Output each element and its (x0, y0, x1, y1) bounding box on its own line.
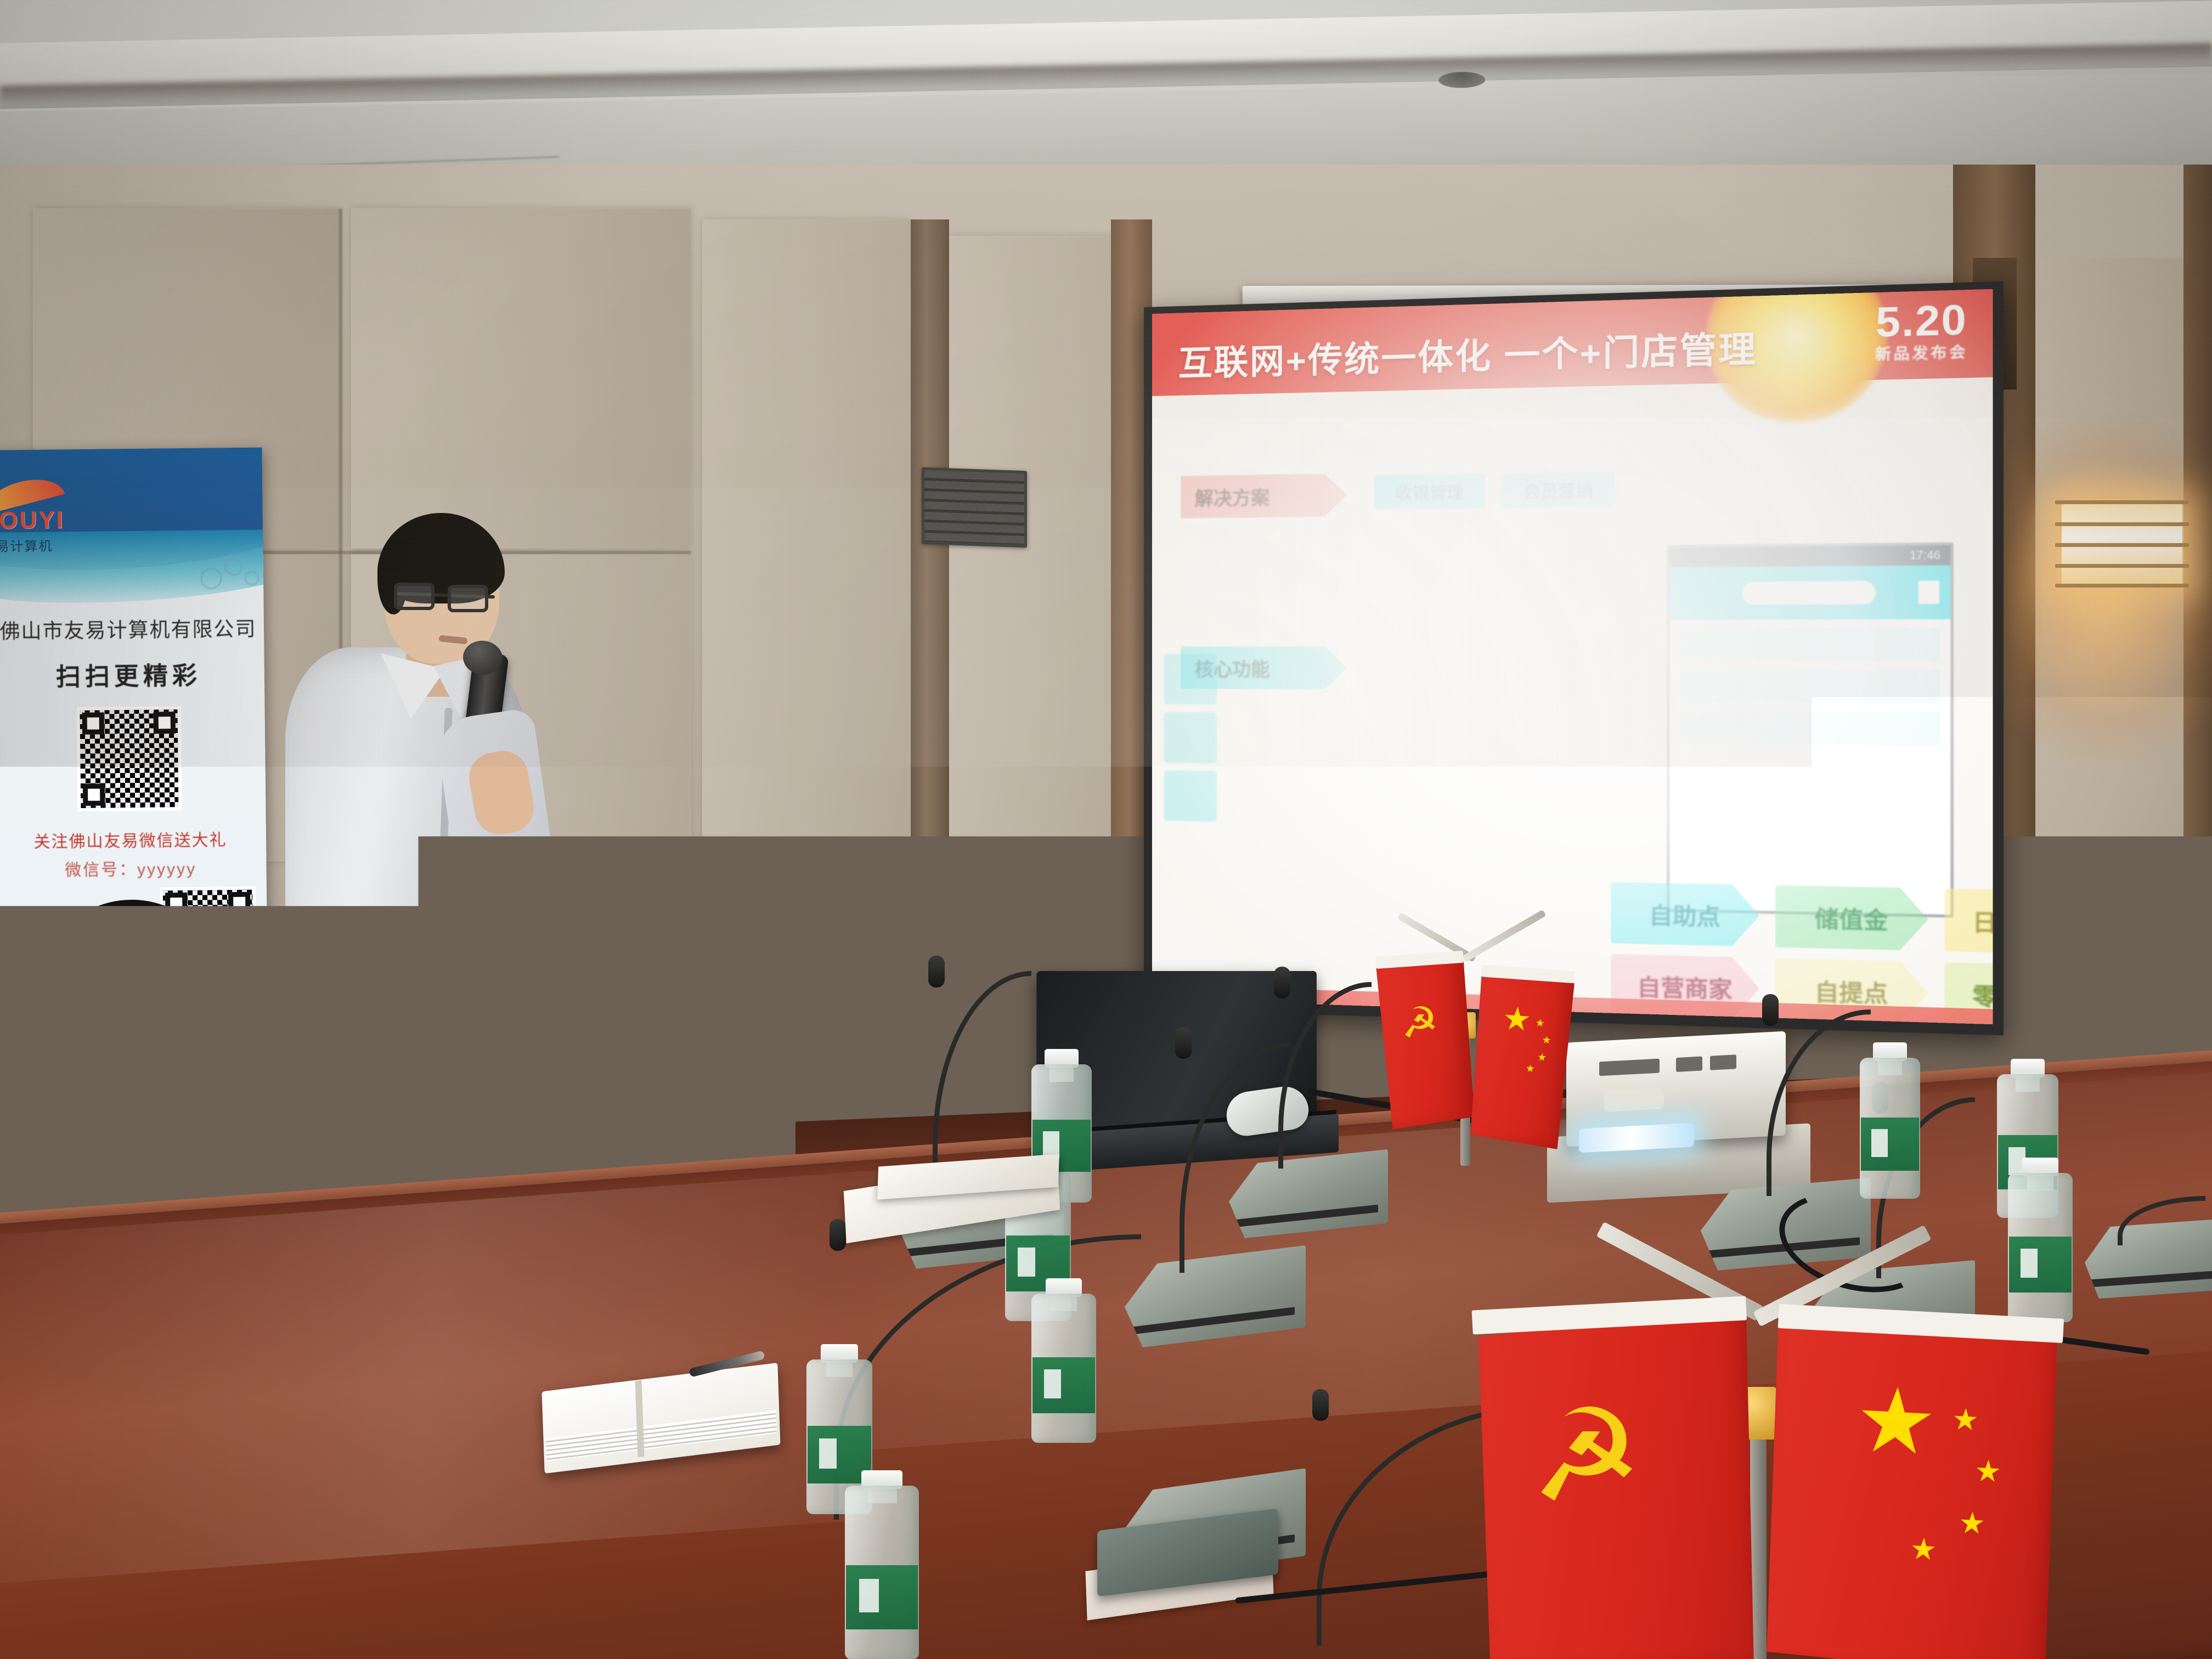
big-star-icon: ★ (1502, 1002, 1532, 1036)
slide-grid-button: 自助点 (1611, 882, 1759, 947)
banner-logo-cn: 友易计算机 (0, 535, 65, 555)
banner-bubble (224, 557, 243, 576)
hammer-and-sickle-icon: ☭ (1400, 1001, 1440, 1045)
microphone-capsule-icon (1274, 967, 1290, 998)
phone-top-bar (1669, 565, 1950, 620)
wall-sconce-lamp-icon (2062, 504, 2182, 586)
wall-panel (949, 236, 1114, 977)
small-star-icon: ★ (1535, 1018, 1545, 1029)
microphone-capsule-icon (1762, 994, 1779, 1026)
cpc-party-flag: ☭ (1375, 954, 1475, 1130)
slide-chevron-1: 解决方案 (1181, 473, 1347, 518)
prc-national-flag: ★ ★ ★ ★ ★ (1760, 1310, 2063, 1659)
slide-grid-button: 储值金 (1775, 885, 1928, 951)
slide-pill: 收银管理 (1374, 473, 1486, 510)
banner-bubble (244, 571, 259, 586)
phone-list-row (1679, 710, 1940, 746)
wall-panel (351, 208, 691, 549)
qr-code-icon[interactable] (76, 706, 182, 811)
phone-status-bar: 17:46 (1669, 545, 1950, 567)
wall-panel (702, 219, 911, 867)
slide-pill: 会员营销 (1502, 471, 1615, 508)
prc-national-flag: ★ ★ ★ ★ ★ (1470, 968, 1575, 1149)
water-bottle[interactable] (2008, 1158, 2073, 1322)
slide-side-tab (1164, 654, 1217, 705)
big-star-icon: ★ (1853, 1374, 1939, 1469)
projection-screen-surface: 互联网+传统一体化 一个+门店管理 5.20 新品发布会 解决方案 收银管理 会… (1152, 289, 1993, 1024)
banner-logo-en: YOUYI (0, 506, 65, 535)
banner-logo: YOUYI 友易计算机 (0, 481, 65, 555)
phone-menu-icon[interactable] (1918, 580, 1939, 604)
slide-pill-row: 收银管理 会员营销 (1374, 471, 1616, 510)
water-bottle[interactable] (1860, 1042, 1920, 1199)
phone-status-time: 17:46 (1910, 549, 1941, 562)
glasses-lens-right (448, 585, 488, 612)
projector-port (1676, 1056, 1702, 1072)
phone-list-row (1679, 628, 1940, 662)
banner-company-name: 佛山市友易计算机有限公司 (0, 612, 264, 644)
microphone-capsule-icon (830, 1219, 846, 1251)
small-star-icon: ★ (1525, 1063, 1535, 1074)
photo-scene: 互联网+传统一体化 一个+门店管理 5.20 新品发布会 解决方案 收银管理 会… (0, 0, 2212, 1659)
air-vent-grille-icon (922, 467, 1027, 548)
water-bottle[interactable] (1031, 1278, 1096, 1443)
small-star-icon: ★ (1958, 1508, 1986, 1539)
slide-side-tab (1164, 770, 1217, 821)
microphone-capsule-icon (928, 956, 945, 988)
slide-side-tab (1164, 712, 1217, 763)
wall-pillar (911, 219, 949, 977)
small-star-icon: ★ (1537, 1052, 1547, 1063)
projector-port (1599, 1059, 1660, 1076)
slide-grid-button: 日结对账 (1944, 888, 1993, 955)
banner-promo-text: 关注佛山友易微信送大礼 (0, 826, 266, 853)
hammer-and-sickle-icon: ☭ (1526, 1390, 1645, 1521)
small-star-icon: ★ (1909, 1534, 1937, 1565)
slide-date-big: 5.20 (1875, 300, 1968, 342)
slide-date-sub: 新品发布会 (1875, 341, 1968, 365)
attendee-ear (765, 955, 797, 998)
glasses-lens-left (394, 583, 435, 610)
projector-port (1710, 1054, 1736, 1070)
banner-slogan: 扫扫更精彩 (0, 654, 264, 693)
small-star-icon: ★ (1974, 1456, 2002, 1487)
microphone-capsule-icon (1312, 1389, 1329, 1421)
phone-search-input[interactable] (1742, 581, 1876, 605)
water-bottle[interactable] (845, 1470, 919, 1659)
microphone-capsule-icon (1175, 1027, 1192, 1059)
slide-title: 互联网+传统一体化 一个+门店管理 (1178, 320, 1758, 386)
banner-wechat-id: 微信号：yyyyyy (0, 854, 267, 881)
cpc-party-flag: ☭ (1472, 1301, 1765, 1659)
banner-bubble (200, 567, 222, 589)
slide-date-badge: 5.20 新品发布会 (1875, 300, 1968, 364)
small-star-icon: ★ (1951, 1404, 1979, 1435)
projector-badge (1604, 1088, 1664, 1112)
small-star-icon: ★ (1542, 1035, 1551, 1046)
slide-phone-mockup: 17:46 (1667, 543, 1954, 918)
phone-list-row (1679, 669, 1940, 703)
